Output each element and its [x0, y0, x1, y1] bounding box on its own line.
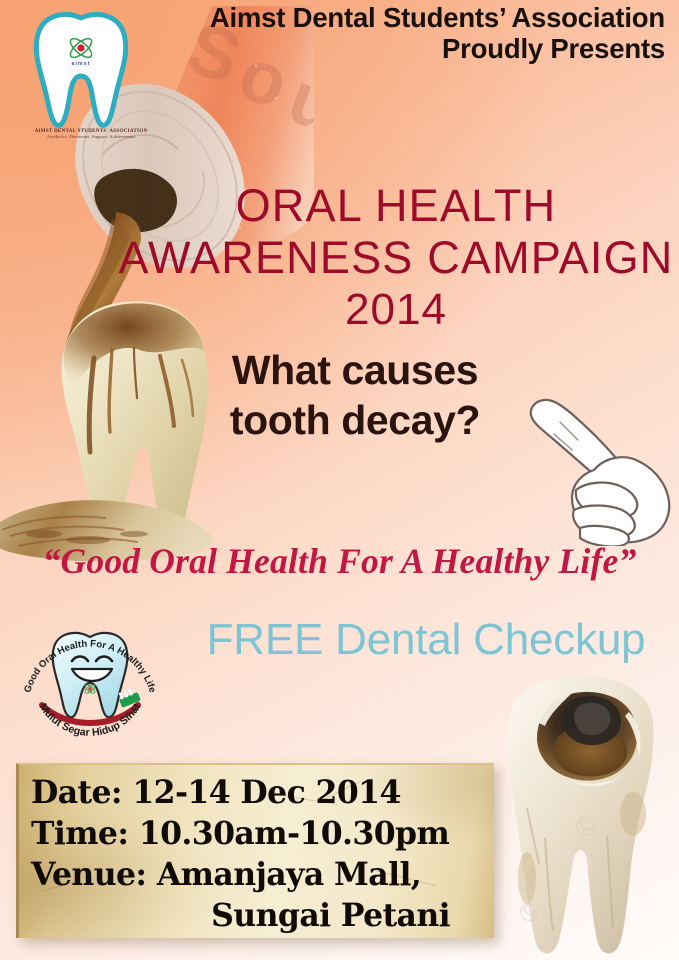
decayed-molar-photo: [483, 668, 679, 960]
slogan-text: “Good Oral Health For A Healthy Life”: [0, 540, 679, 582]
poster-canvas: S o u: [0, 0, 679, 960]
event-details-banner: Date: 12-14 Dec 2014 Time: 10.30am-10.30…: [16, 763, 494, 938]
svg-text:aimst: aimst: [71, 61, 90, 67]
campaign-smiling-tooth-logo: Good Oral Health For A Healthy Life Mulu…: [14, 613, 166, 743]
title-line-year: 2014: [118, 284, 674, 336]
header-line-association: Aimst Dental Students’ Association: [105, 2, 665, 33]
aimst-logo-caption: AIMST DENTAL STUDENTS' ASSOCIATION Aesth…: [27, 128, 155, 140]
event-date-line: Date: 12-14 Dec 2014: [31, 772, 486, 813]
event-venue-line-1: Venue: Amanjaya Mall,: [31, 854, 486, 895]
title-line-2: AWARENESS CAMPAIGN: [118, 232, 674, 284]
question-line-2: tooth decay?: [150, 395, 560, 445]
event-time-line: Time: 10.30am-10.30pm: [31, 813, 486, 854]
event-venue-line-2: Sungai Petani: [31, 895, 486, 936]
question-headline: What causes tooth decay?: [150, 345, 560, 445]
aimst-logo-caption-line2: Aesthetics. Dexterous. Support. Achievem…: [27, 134, 155, 140]
free-dental-checkup-text: FREE Dental Checkup: [180, 615, 672, 665]
question-line-1: What causes: [150, 345, 560, 395]
page-title: ORAL HEALTH AWARENESS CAMPAIGN 2014: [118, 180, 674, 336]
poster-header: Aimst Dental Students’ Association Proud…: [105, 2, 665, 64]
title-line-1: ORAL HEALTH: [118, 180, 674, 232]
header-line-presents: Proudly Presents: [105, 33, 665, 64]
